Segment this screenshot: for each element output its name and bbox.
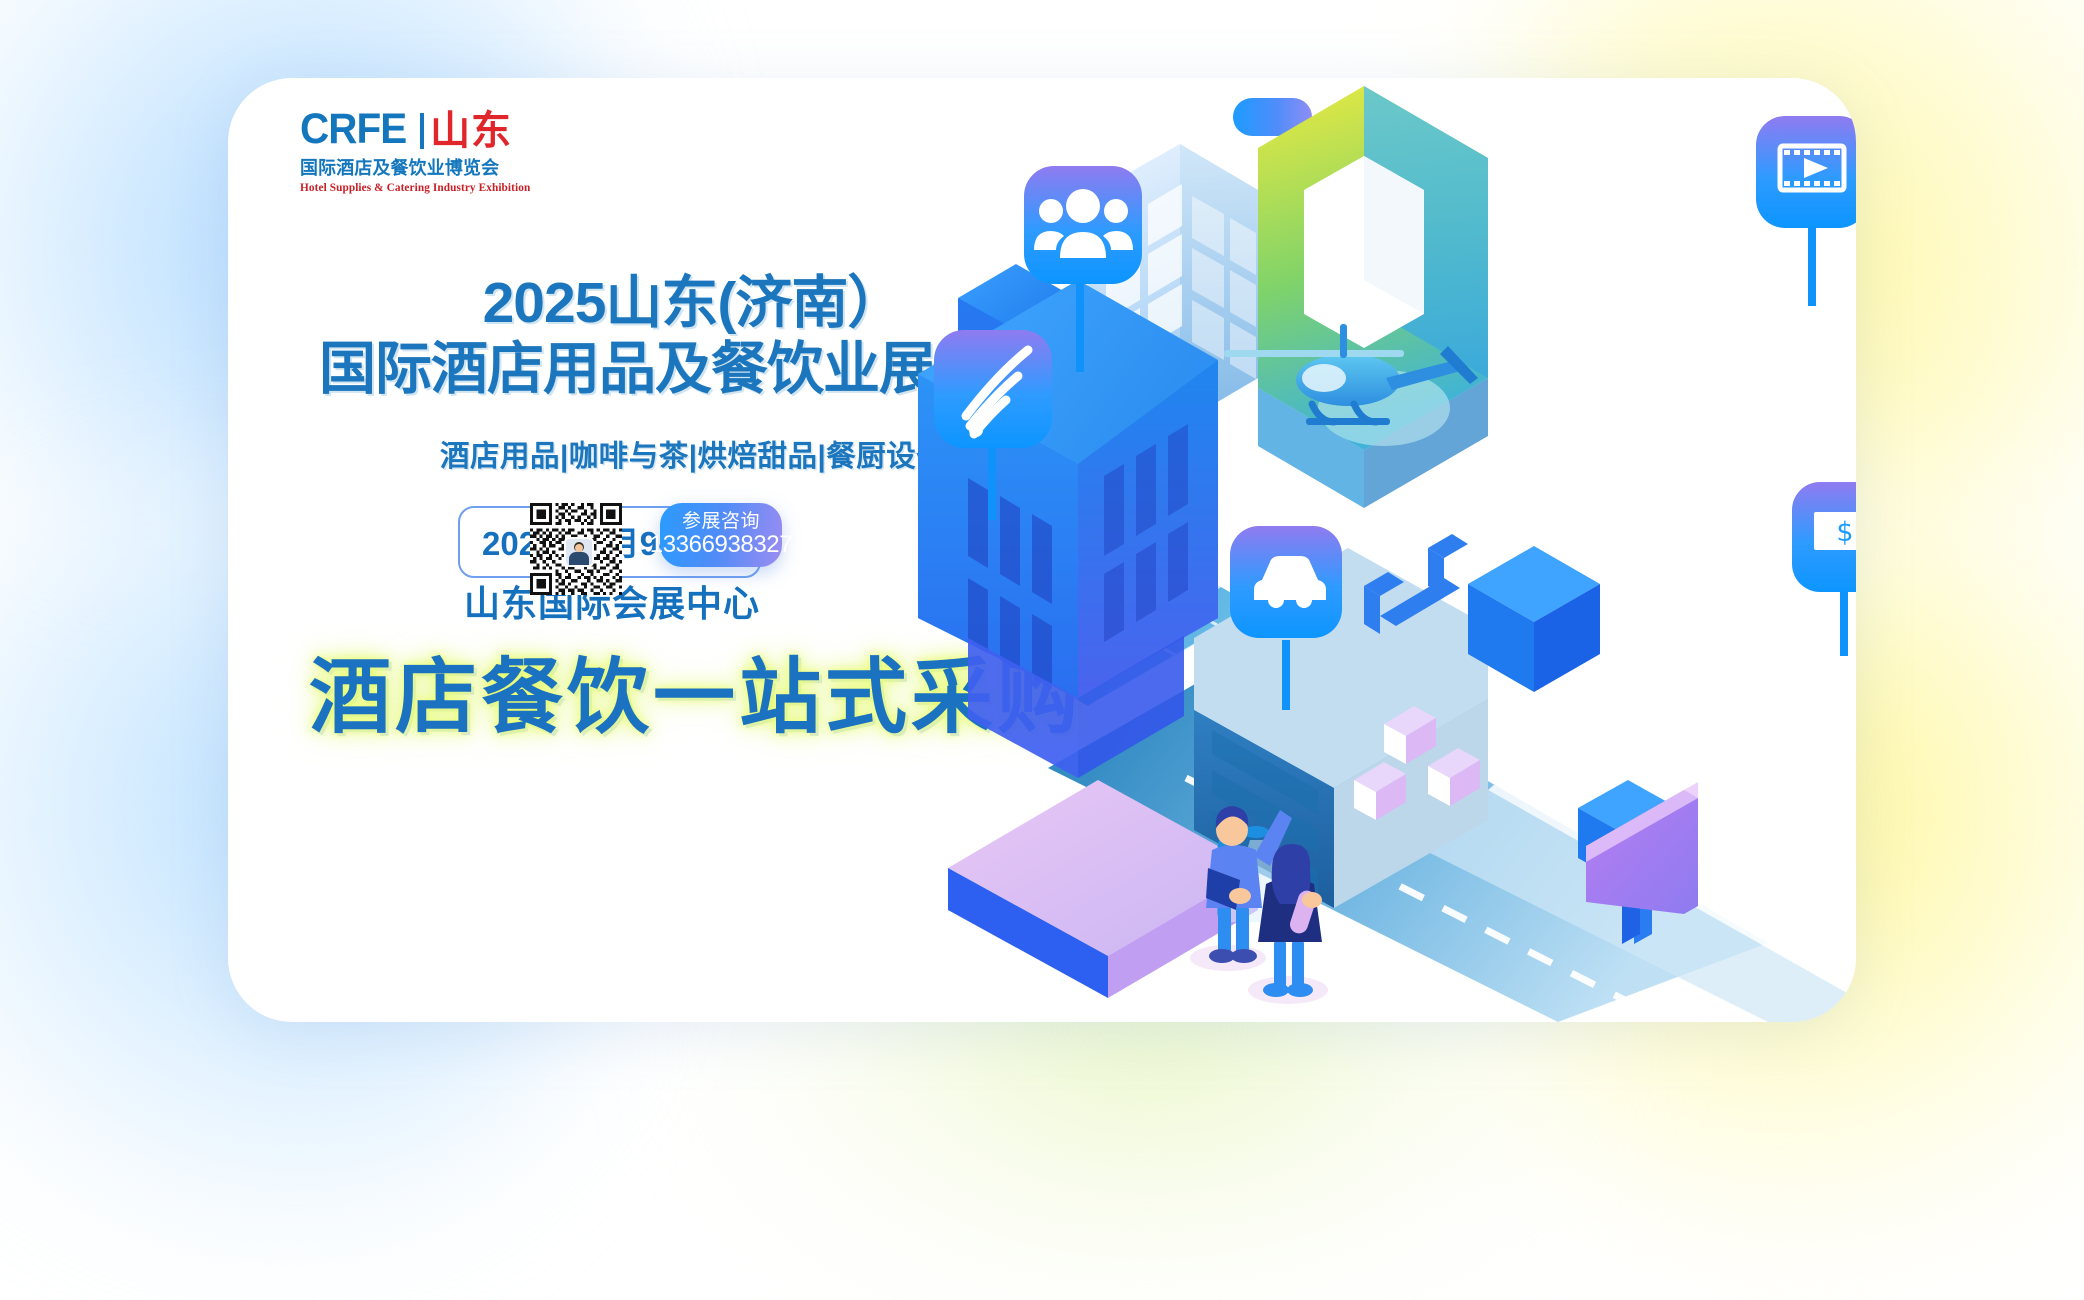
logo-subtitle-en: Hotel Supplies & Catering Industry Exhib…	[300, 182, 528, 194]
contact-title: 参展咨询	[682, 512, 760, 532]
logo-crfe-text: CRFE	[300, 108, 406, 151]
qr-center-avatar	[564, 537, 594, 567]
logo-subtitle-cn: 国际酒店及餐饮业博览会	[300, 154, 527, 180]
letter-d-arch	[1258, 86, 1488, 508]
logo-divider	[420, 113, 424, 149]
contact-bubble[interactable]: 参展咨询 13366938327	[660, 503, 782, 567]
logo-wordmark-row: CRFE 山东	[300, 108, 530, 151]
crfe-logo: CRFE 山东 国际酒店及餐饮业博览会 Hotel Supplies & Cat…	[300, 108, 530, 194]
qr-code[interactable]	[530, 503, 622, 595]
poster-stage: CRFE 山东 国际酒店及餐饮业博览会 Hotel Supplies & Cat…	[0, 0, 2084, 1146]
poster-card: CRFE 山东 国际酒店及餐饮业博览会 Hotel Supplies & Cat…	[228, 78, 1856, 1022]
isometric-city-illustration: $	[788, 78, 1856, 1022]
contact-phone: 13366938327	[650, 532, 792, 558]
logo-region-text: 山东	[430, 111, 512, 151]
svg-text:$: $	[1836, 517, 1853, 548]
pin-money: $	[1792, 482, 1856, 656]
pin-video	[1756, 116, 1856, 306]
